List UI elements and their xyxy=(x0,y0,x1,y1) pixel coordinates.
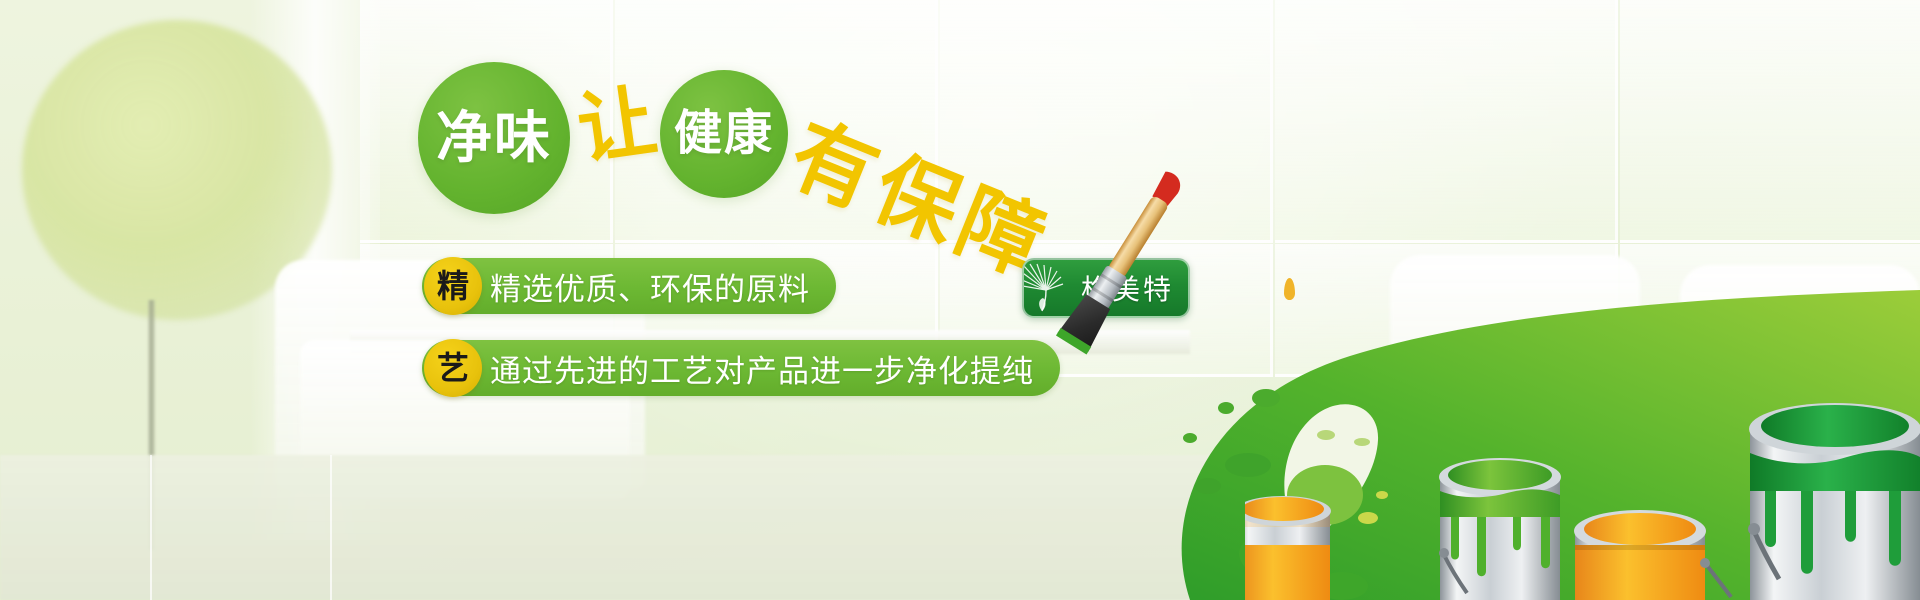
feature-pill-1: 精 精选优质、环保的原料 xyxy=(422,258,836,314)
headline-text-jingwei: 净味 xyxy=(436,110,552,166)
paintbrush-icon xyxy=(1052,160,1192,360)
feature-key-badge-1: 精 xyxy=(424,257,482,315)
feature-row: 艺 通过先进的工艺对产品进一步净化提纯 xyxy=(422,340,1060,396)
headline-badge-jingwei: 净味 xyxy=(418,62,570,214)
feature-row: 精 精选优质、环保的原料 xyxy=(422,258,836,314)
promo-banner: 净味 让 健康 有保障 精 精选优质、环保的原料 xyxy=(0,0,1920,600)
feature-text-2: 通过先进的工艺对产品进一步净化提纯 xyxy=(490,346,1034,391)
headline-text-jiankang: 健康 xyxy=(674,110,774,158)
headline-text-rang: 让 xyxy=(573,81,661,169)
paint-cans-group xyxy=(1245,395,1920,600)
feature-pill-2: 艺 通过先进的工艺对产品进一步净化提纯 xyxy=(422,340,1060,396)
feature-text-1: 精选优质、环保的原料 xyxy=(490,264,810,309)
headline-badge-jiankang: 健康 xyxy=(660,70,788,198)
feature-key-badge-2: 艺 xyxy=(424,339,482,397)
